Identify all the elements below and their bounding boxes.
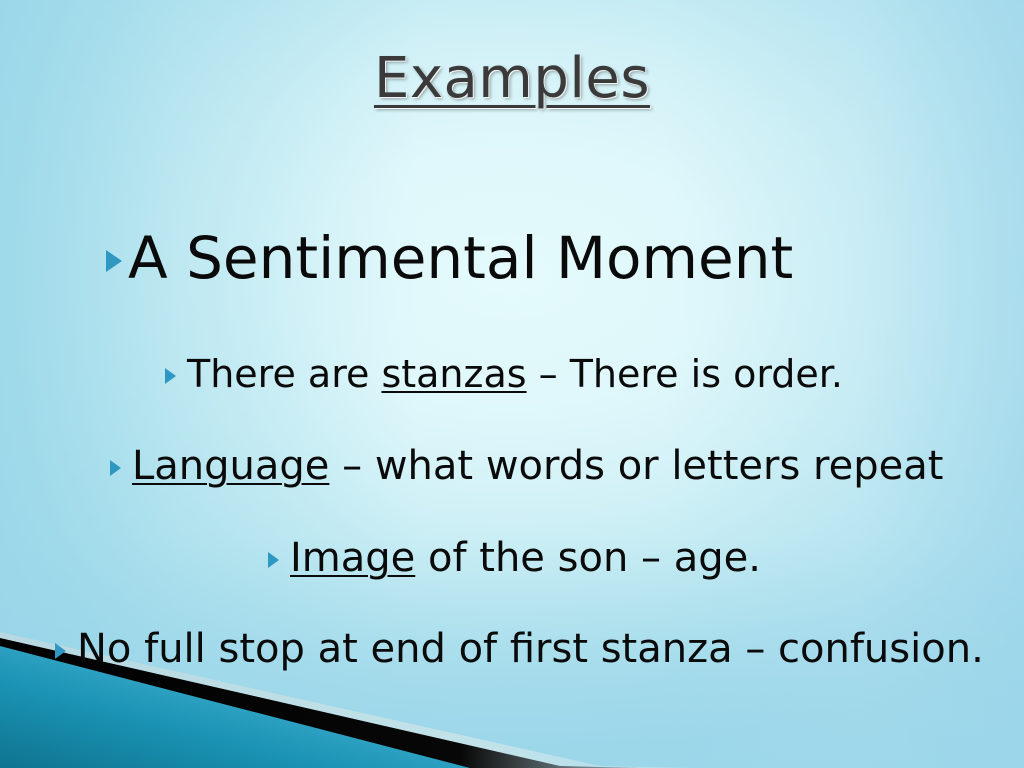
bullet-line-4: Image of the son – age. bbox=[268, 535, 761, 581]
emphasis-language: Language bbox=[132, 443, 329, 489]
triangle-right-bullet-icon bbox=[165, 368, 176, 384]
triangle-right-bullet-icon bbox=[110, 460, 121, 476]
bullet-line-3: Language – what words or letters repeat bbox=[110, 443, 943, 489]
bullet-line-5: No full stop at end of first stanza – co… bbox=[55, 626, 984, 672]
bullet-line-1: A Sentimental Moment bbox=[106, 224, 793, 292]
bullet-line-2: There are stanzas – There is order. bbox=[165, 352, 843, 396]
triangle-right-bullet-icon bbox=[55, 643, 66, 659]
presentation-slide: Examples A Sentimental Moment There are … bbox=[0, 0, 1024, 768]
triangle-right-bullet-icon bbox=[106, 250, 122, 272]
bullet-line-1-text: A Sentimental Moment bbox=[128, 224, 793, 292]
body-content: A Sentimental Moment There are stanzas –… bbox=[0, 0, 1024, 768]
emphasis-stanzas: stanzas bbox=[381, 352, 526, 396]
bullet-line-4-text: Image of the son – age. bbox=[290, 535, 761, 581]
bullet-line-2-text: There are stanzas – There is order. bbox=[187, 352, 843, 396]
triangle-right-bullet-icon bbox=[268, 552, 279, 568]
bullet-line-3-text: Language – what words or letters repeat bbox=[132, 443, 943, 489]
bullet-line-5-text: No full stop at end of first stanza – co… bbox=[77, 626, 984, 672]
emphasis-image: Image bbox=[290, 535, 415, 581]
